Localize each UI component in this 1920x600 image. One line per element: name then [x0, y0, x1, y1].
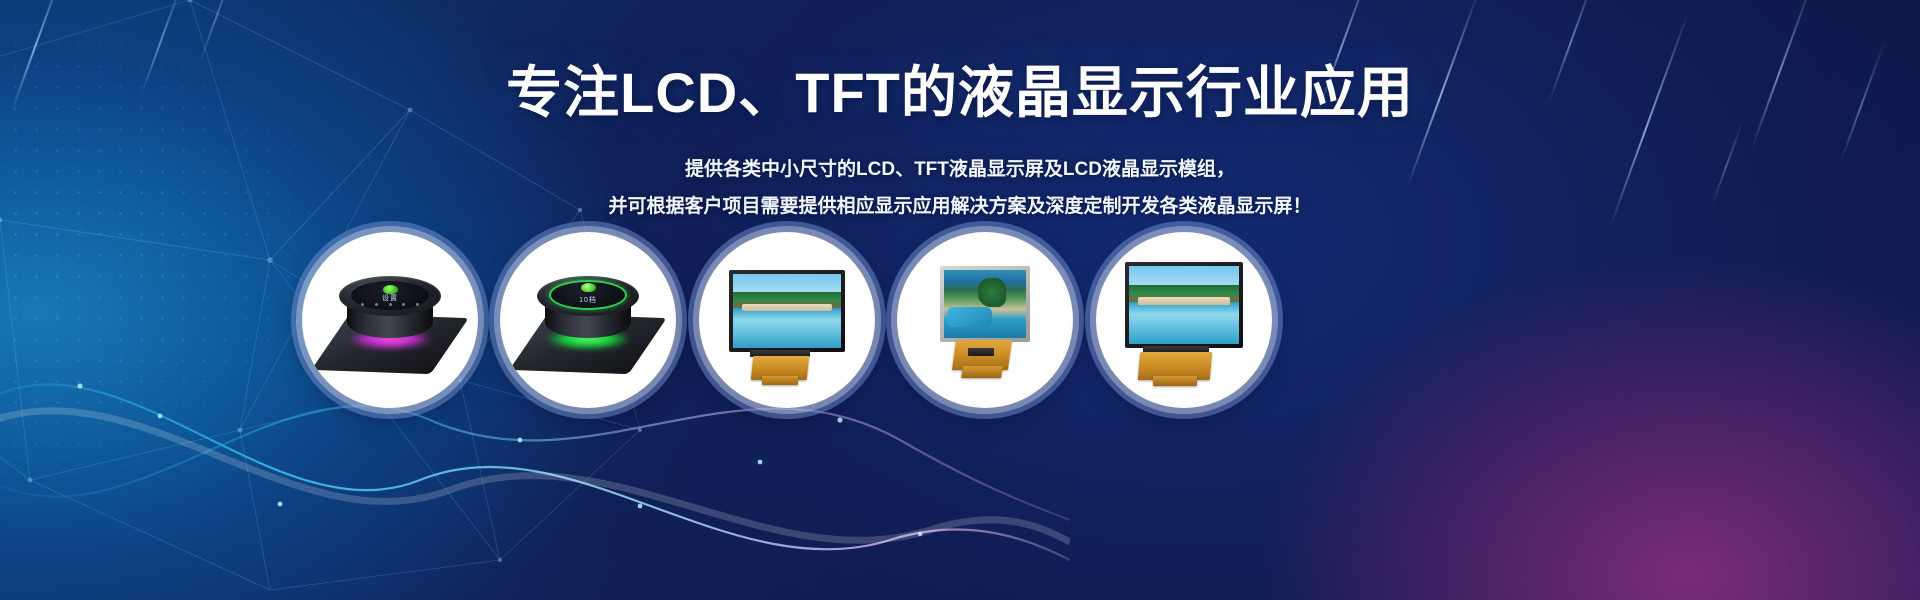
- product-circle-5[interactable]: [1096, 232, 1272, 408]
- product-image-tft-lcd-large-black-bezel-beach: [1109, 250, 1259, 390]
- device-indicator-dots: [361, 303, 419, 306]
- lcd-bezel: [729, 270, 845, 352]
- device-display-text: 10档: [563, 295, 613, 305]
- lcd-screen-image: [733, 274, 841, 348]
- product-image-tft-lcd-black-bezel-beach: [712, 250, 862, 390]
- product-image-round-smart-display-purple: 设置: [315, 250, 465, 390]
- product-circle-2[interactable]: 10档: [500, 232, 676, 408]
- hero-text-block: 专注LCD、TFT的液晶显示行业应用 提供各类中小尺寸的LCD、TFT液晶显示屏…: [0, 62, 1920, 225]
- fpc-ribbon-tail: [961, 366, 1003, 378]
- product-circle-1[interactable]: 设置: [302, 232, 478, 408]
- page-title: 专注LCD、TFT的液晶显示行业应用: [0, 62, 1920, 125]
- product-circle-row: 设置 10档: [0, 232, 1920, 432]
- lcd-bezel: [1125, 262, 1243, 348]
- device-display-text: 设置: [365, 293, 415, 303]
- lcd-bezel: [940, 266, 1030, 342]
- product-circle-3[interactable]: [699, 232, 875, 408]
- leaf-icon: [581, 283, 596, 292]
- hero-banner: 专注LCD、TFT的液晶显示行业应用 提供各类中小尺寸的LCD、TFT液晶显示屏…: [0, 0, 1920, 600]
- subtitle-line-2: 并可根据客户项目需要提供相应显示应用解决方案及深度定制开发各类液晶显示屏！: [0, 188, 1920, 225]
- lcd-screen-image: [944, 270, 1026, 338]
- lcd-screen-image: [1129, 266, 1239, 344]
- fpc-ribbon-tail: [762, 376, 798, 385]
- fpc-chip: [968, 348, 994, 356]
- product-image-round-smart-display-green: 10档: [513, 250, 663, 390]
- product-image-tft-lcd-silver-bezel-coast: [910, 250, 1060, 390]
- product-circle-4[interactable]: [897, 232, 1073, 408]
- fpc-ribbon-tail: [1153, 376, 1197, 386]
- subtitle-line-1: 提供各类中小尺寸的LCD、TFT液晶显示屏及LCD液晶显示模组，: [0, 151, 1920, 188]
